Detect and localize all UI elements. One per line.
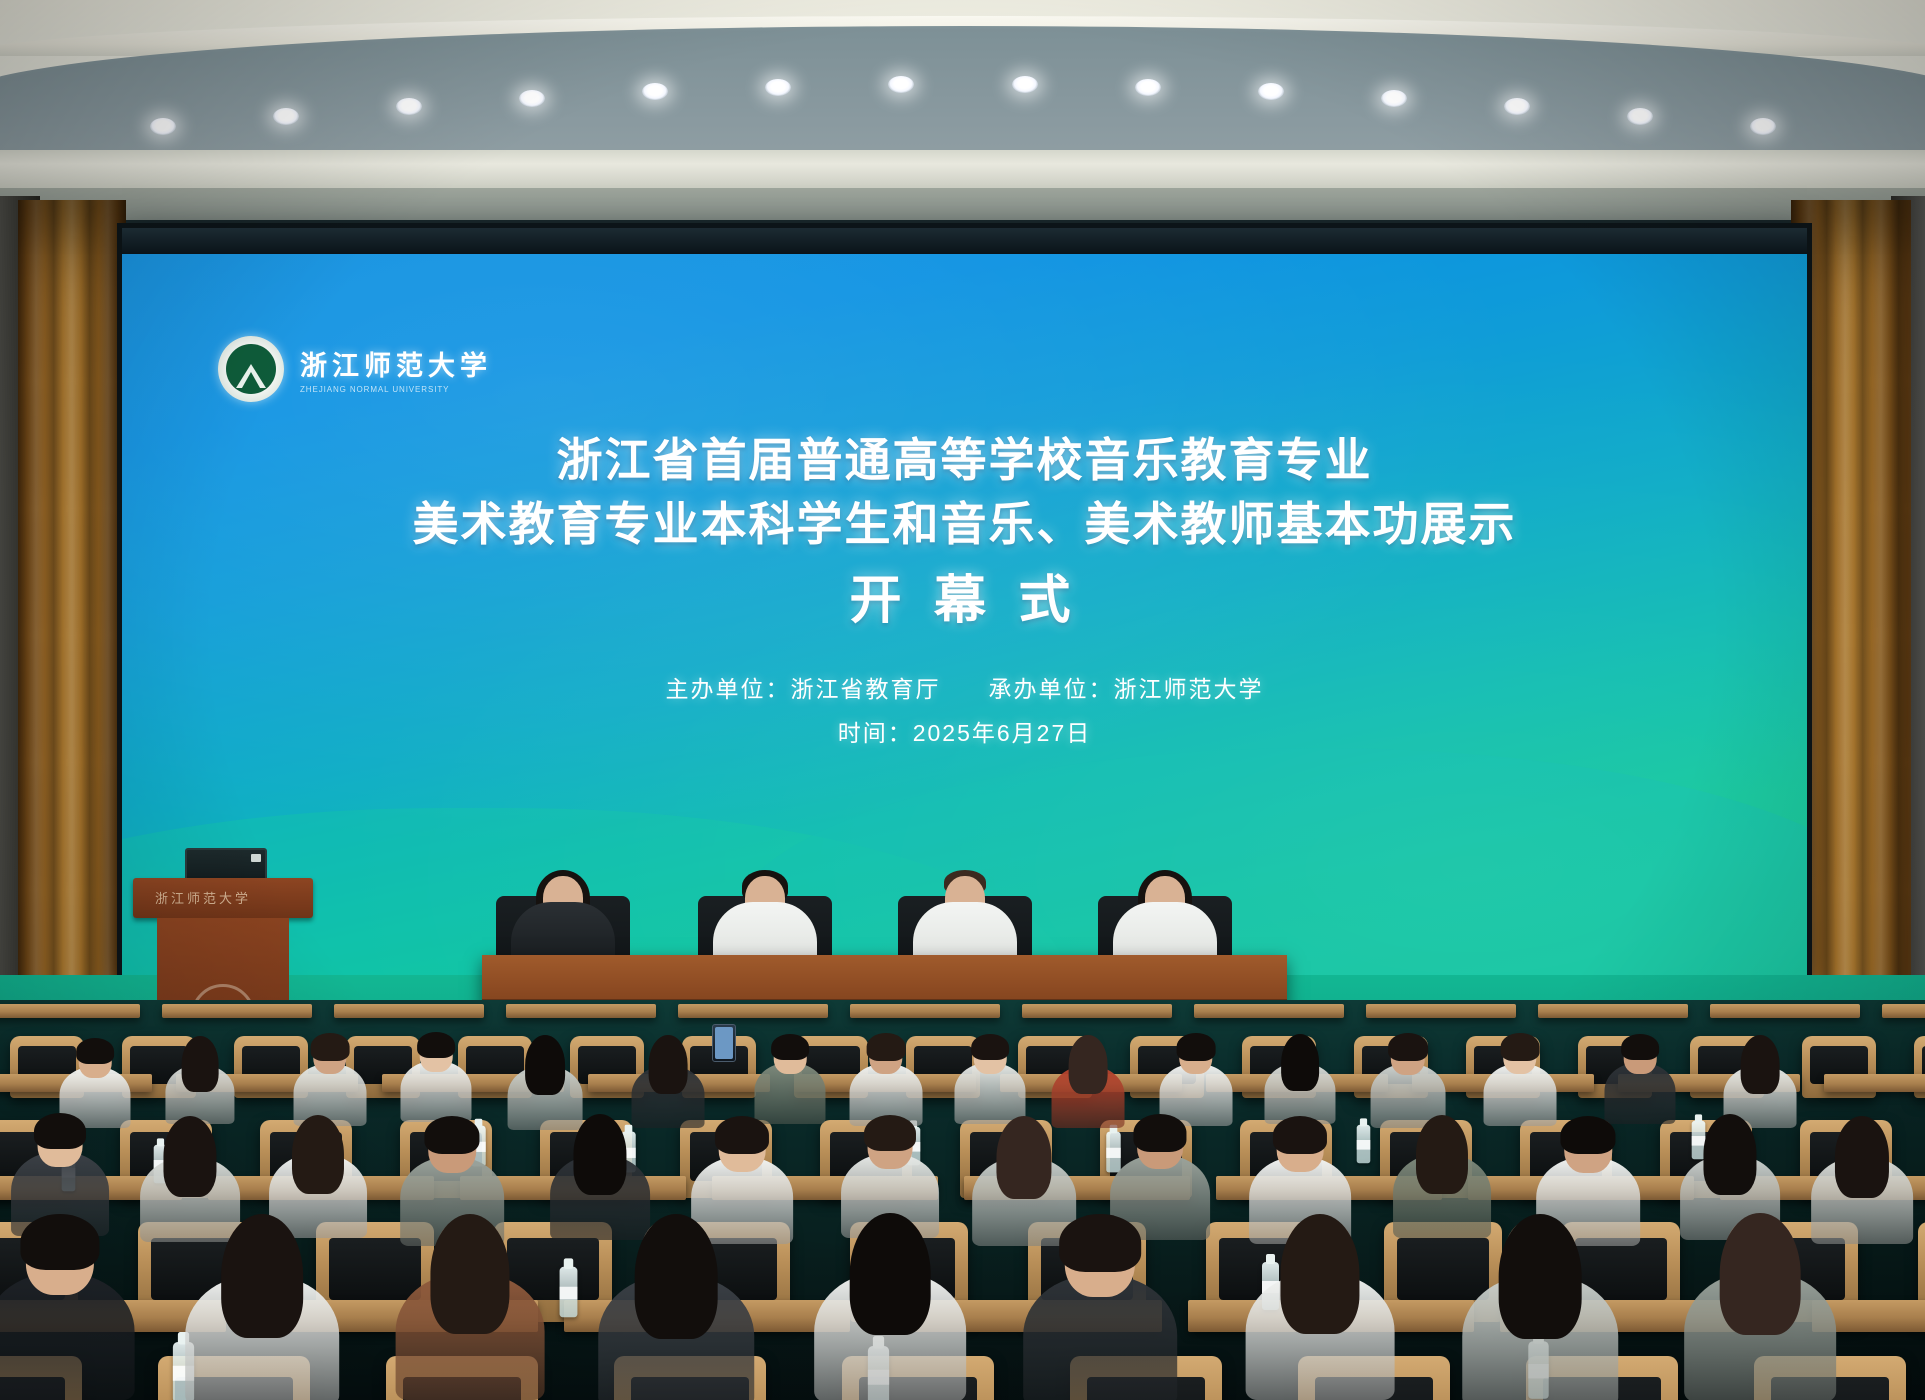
audience-desk <box>1882 1004 1925 1018</box>
downlight-icon <box>1381 90 1407 107</box>
audience-member <box>165 1039 234 1124</box>
organizer-line: 主办单位：浙江省教育厅承办单位：浙江师范大学 <box>122 667 1807 711</box>
audience-member-hair <box>221 1214 303 1338</box>
audience-member-hair <box>1059 1214 1141 1272</box>
audience-member-hair <box>715 1116 769 1154</box>
audience-member-hair <box>182 1036 219 1092</box>
audience-member <box>598 1217 754 1400</box>
time-value: 2025年6月27日 <box>913 720 1092 746</box>
audience-member-hair <box>311 1033 350 1060</box>
audience-member <box>954 1037 1025 1124</box>
audience-member-hair <box>1835 1116 1889 1198</box>
audience-member <box>1246 1217 1395 1400</box>
audience-desk <box>1710 1004 1860 1018</box>
audience-member-hair <box>867 1033 906 1060</box>
audience-member <box>1684 1216 1836 1400</box>
audience-member-hair <box>163 1116 216 1197</box>
ceiling-shadow-strip <box>0 188 1925 220</box>
audience-desk <box>1538 1004 1688 1018</box>
audience-member-hair <box>1133 1114 1186 1151</box>
audience-desk <box>1194 1004 1344 1018</box>
audience-desk <box>162 1004 312 1018</box>
audience-member <box>508 1038 583 1130</box>
audience-member <box>0 1217 134 1400</box>
university-name-en: ZHEJIANG NORMAL UNIVERSITY <box>300 385 492 394</box>
downlight-icon <box>1750 118 1776 135</box>
audience-member-hair <box>996 1116 1051 1200</box>
audience-area <box>0 1000 1925 1400</box>
university-logo: 浙江师范大学 ZHEJIANG NORMAL UNIVERSITY <box>218 336 492 402</box>
audience-member <box>754 1037 825 1124</box>
conference-hall-photo: 浙江师范大学 ZHEJIANG NORMAL UNIVERSITY 浙江省首届普… <box>0 0 1925 1400</box>
audience-member-hair <box>1280 1214 1359 1334</box>
audience-member-hair <box>1177 1033 1216 1060</box>
audience-member <box>185 1217 339 1400</box>
audience-member <box>294 1036 367 1126</box>
water-bottle-icon <box>560 1267 578 1317</box>
audience-member-hair <box>1273 1116 1327 1154</box>
audience-member-hair <box>1720 1213 1801 1335</box>
podium-top: 浙江师范大学 <box>133 878 313 918</box>
event-title-block: 浙江省首届普通高等学校音乐教育专业 美术教育专业本科学生和音乐、美术教师基本功展… <box>122 428 1807 640</box>
audience-member-hair <box>864 1115 916 1152</box>
audience-member-hair <box>971 1034 1009 1061</box>
host-value: 浙江省教育厅 <box>791 676 941 702</box>
audience-member <box>1462 1217 1618 1400</box>
audience-member-hair <box>771 1034 809 1061</box>
downlight-icon <box>1012 76 1038 93</box>
audience-member <box>1371 1036 1446 1128</box>
downlight-icon <box>150 118 176 135</box>
audience-desk <box>850 1004 1000 1018</box>
audience-member <box>814 1216 966 1400</box>
water-bottle-icon <box>1357 1125 1371 1163</box>
audience-member-hair <box>1621 1034 1659 1061</box>
audience-desk <box>1022 1004 1172 1018</box>
audience-member <box>850 1036 923 1126</box>
event-title-line-2: 美术教育专业本科学生和音乐、美术教师基本功展示 <box>122 492 1807 556</box>
university-name-cn: 浙江师范大学 <box>300 344 492 383</box>
audience-desk <box>0 1004 140 1018</box>
audience-member-hair <box>1741 1035 1780 1094</box>
audience-member <box>1160 1036 1233 1126</box>
time-label: 时间： <box>838 720 913 746</box>
audience-member-hair <box>635 1214 718 1340</box>
audience-member <box>1052 1038 1125 1128</box>
hill-silhouette-right <box>729 748 1807 978</box>
audience-member <box>1023 1217 1177 1400</box>
led-screen-top-rail <box>122 228 1807 254</box>
downlight-icon <box>273 108 299 125</box>
audience-member-hair <box>1069 1035 1108 1094</box>
audience-member-hair <box>76 1038 114 1065</box>
audience-member-hair <box>1388 1033 1428 1061</box>
smartphone-icon <box>712 1024 736 1062</box>
event-title-line-1: 浙江省首届普通高等学校音乐教育专业 <box>122 428 1807 492</box>
audience-member-hair <box>20 1214 99 1270</box>
audience-member-hair <box>1499 1214 1582 1340</box>
audience-desk <box>678 1004 828 1018</box>
audience-member <box>1264 1037 1335 1124</box>
downlight-icon <box>1627 108 1653 125</box>
audience-desk <box>334 1004 484 1018</box>
audience-member-hair <box>424 1116 479 1155</box>
audience-desk <box>1366 1004 1516 1018</box>
audience-member <box>400 1035 471 1122</box>
event-time-line: 时间：2025年6月27日 <box>122 711 1807 755</box>
audience-member-hair <box>1281 1034 1319 1091</box>
organizer-label: 承办单位： <box>989 676 1114 702</box>
audience-member <box>1604 1037 1675 1124</box>
podium-label: 浙江师范大学 <box>155 888 299 906</box>
audience-member-hair <box>525 1035 565 1095</box>
downlight-icon <box>1135 79 1161 96</box>
audience-member-hair <box>649 1035 688 1094</box>
audience-member-hair <box>1703 1114 1756 1195</box>
event-subtitle-block: 主办单位：浙江省教育厅承办单位：浙江师范大学 时间：2025年6月27日 <box>122 667 1807 755</box>
audience-desk <box>1824 1074 1925 1092</box>
host-label: 主办单位： <box>666 676 791 702</box>
event-title-main: 开 幕 式 <box>122 562 1807 640</box>
organizer-value: 浙江师范大学 <box>1114 676 1264 702</box>
audience-member-hair <box>292 1115 344 1194</box>
university-logo-text: 浙江师范大学 ZHEJIANG NORMAL UNIVERSITY <box>300 344 492 394</box>
ceiling-trim-band <box>0 150 1925 190</box>
audience-member-hair <box>34 1113 86 1150</box>
audience-member-hair <box>1416 1115 1468 1194</box>
audience-member <box>396 1217 545 1400</box>
audience-member-hair <box>430 1214 509 1334</box>
audience-member-hair <box>573 1114 626 1195</box>
audience-member-hair <box>417 1032 455 1059</box>
downlight-icon <box>765 79 791 96</box>
audience-member <box>1484 1036 1557 1126</box>
audience-member-hair <box>850 1213 931 1335</box>
zjnu-seal-icon <box>218 336 284 402</box>
audience-member-hair <box>1501 1033 1540 1060</box>
audience-member <box>632 1038 705 1128</box>
audience-desk <box>506 1004 656 1018</box>
audience-member-hair <box>1560 1116 1615 1155</box>
